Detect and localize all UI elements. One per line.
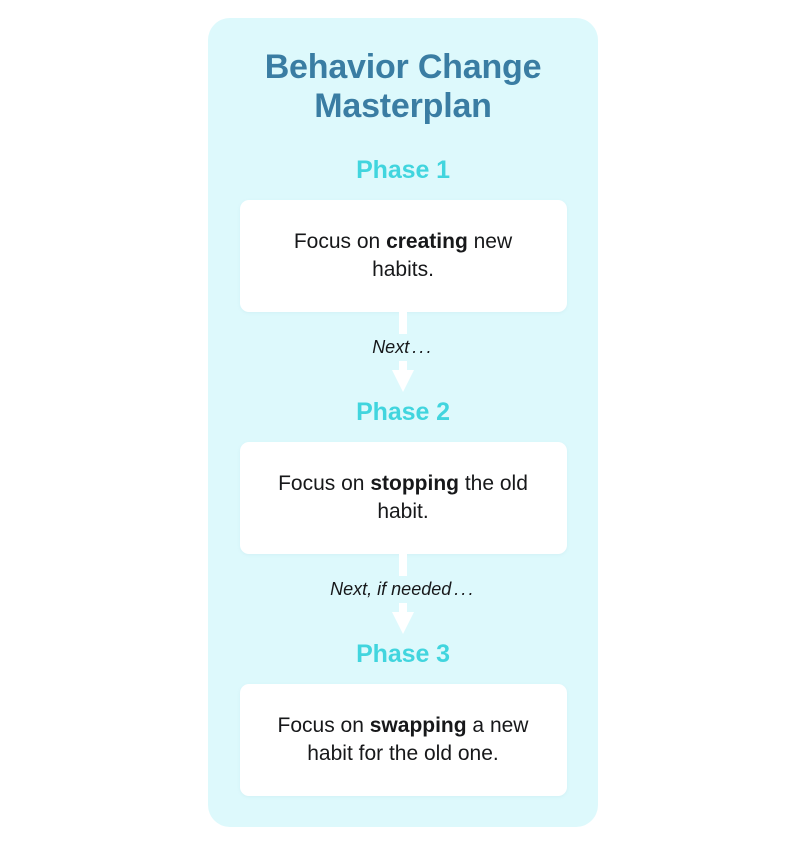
phase-card-2: Focus on stopping the old habit. [240, 442, 567, 554]
phase-text-prefix-2: Focus on [278, 472, 370, 495]
behavior-change-masterplan-infographic: Behavior Change Masterplan Phase 1 Focus… [0, 0, 800, 841]
phase-stack: Phase 1 Focus on creating new habits. Ne… [208, 158, 598, 796]
connector-caption-text-1: Next [372, 337, 409, 357]
phase-card-text-2: Focus on stopping the old habit. [262, 470, 545, 526]
connector-caption-text-2: Next, if needed [330, 579, 451, 599]
phase-label-3: Phase 3 [208, 642, 598, 684]
phase-text-emphasis-3: swapping [370, 714, 467, 737]
connector-caption-dots-1: ... [409, 337, 434, 357]
phase-block-2: Phase 2 Focus on stopping the old habit. [208, 400, 598, 554]
connector-1: Next... [208, 312, 598, 400]
phase-text-emphasis-2: stopping [370, 472, 459, 495]
phase-text-prefix-3: Focus on [278, 714, 370, 737]
phase-text-prefix-1: Focus on [294, 230, 386, 253]
phase-label-1: Phase 1 [208, 158, 598, 200]
connector-caption-dots-2: ... [451, 579, 476, 599]
phase-block-1: Phase 1 Focus on creating new habits. [208, 158, 598, 312]
connector-caption-1: Next... [208, 338, 598, 356]
connector-caption-2: Next, if needed... [208, 580, 598, 598]
phase-card-3: Focus on swapping a new habit for the ol… [240, 684, 567, 796]
phase-card-text-1: Focus on creating new habits. [262, 228, 545, 284]
phase-card-1: Focus on creating new habits. [240, 200, 567, 312]
phase-label-2: Phase 2 [208, 400, 598, 442]
phase-card-text-3: Focus on swapping a new habit for the ol… [262, 712, 545, 768]
page-title: Behavior Change Masterplan [208, 48, 598, 126]
phase-text-emphasis-1: creating [386, 230, 468, 253]
phase-block-3: Phase 3 Focus on swapping a new habit fo… [208, 642, 598, 796]
infographic-panel: Behavior Change Masterplan Phase 1 Focus… [208, 18, 598, 827]
connector-2: Next, if needed... [208, 554, 598, 642]
